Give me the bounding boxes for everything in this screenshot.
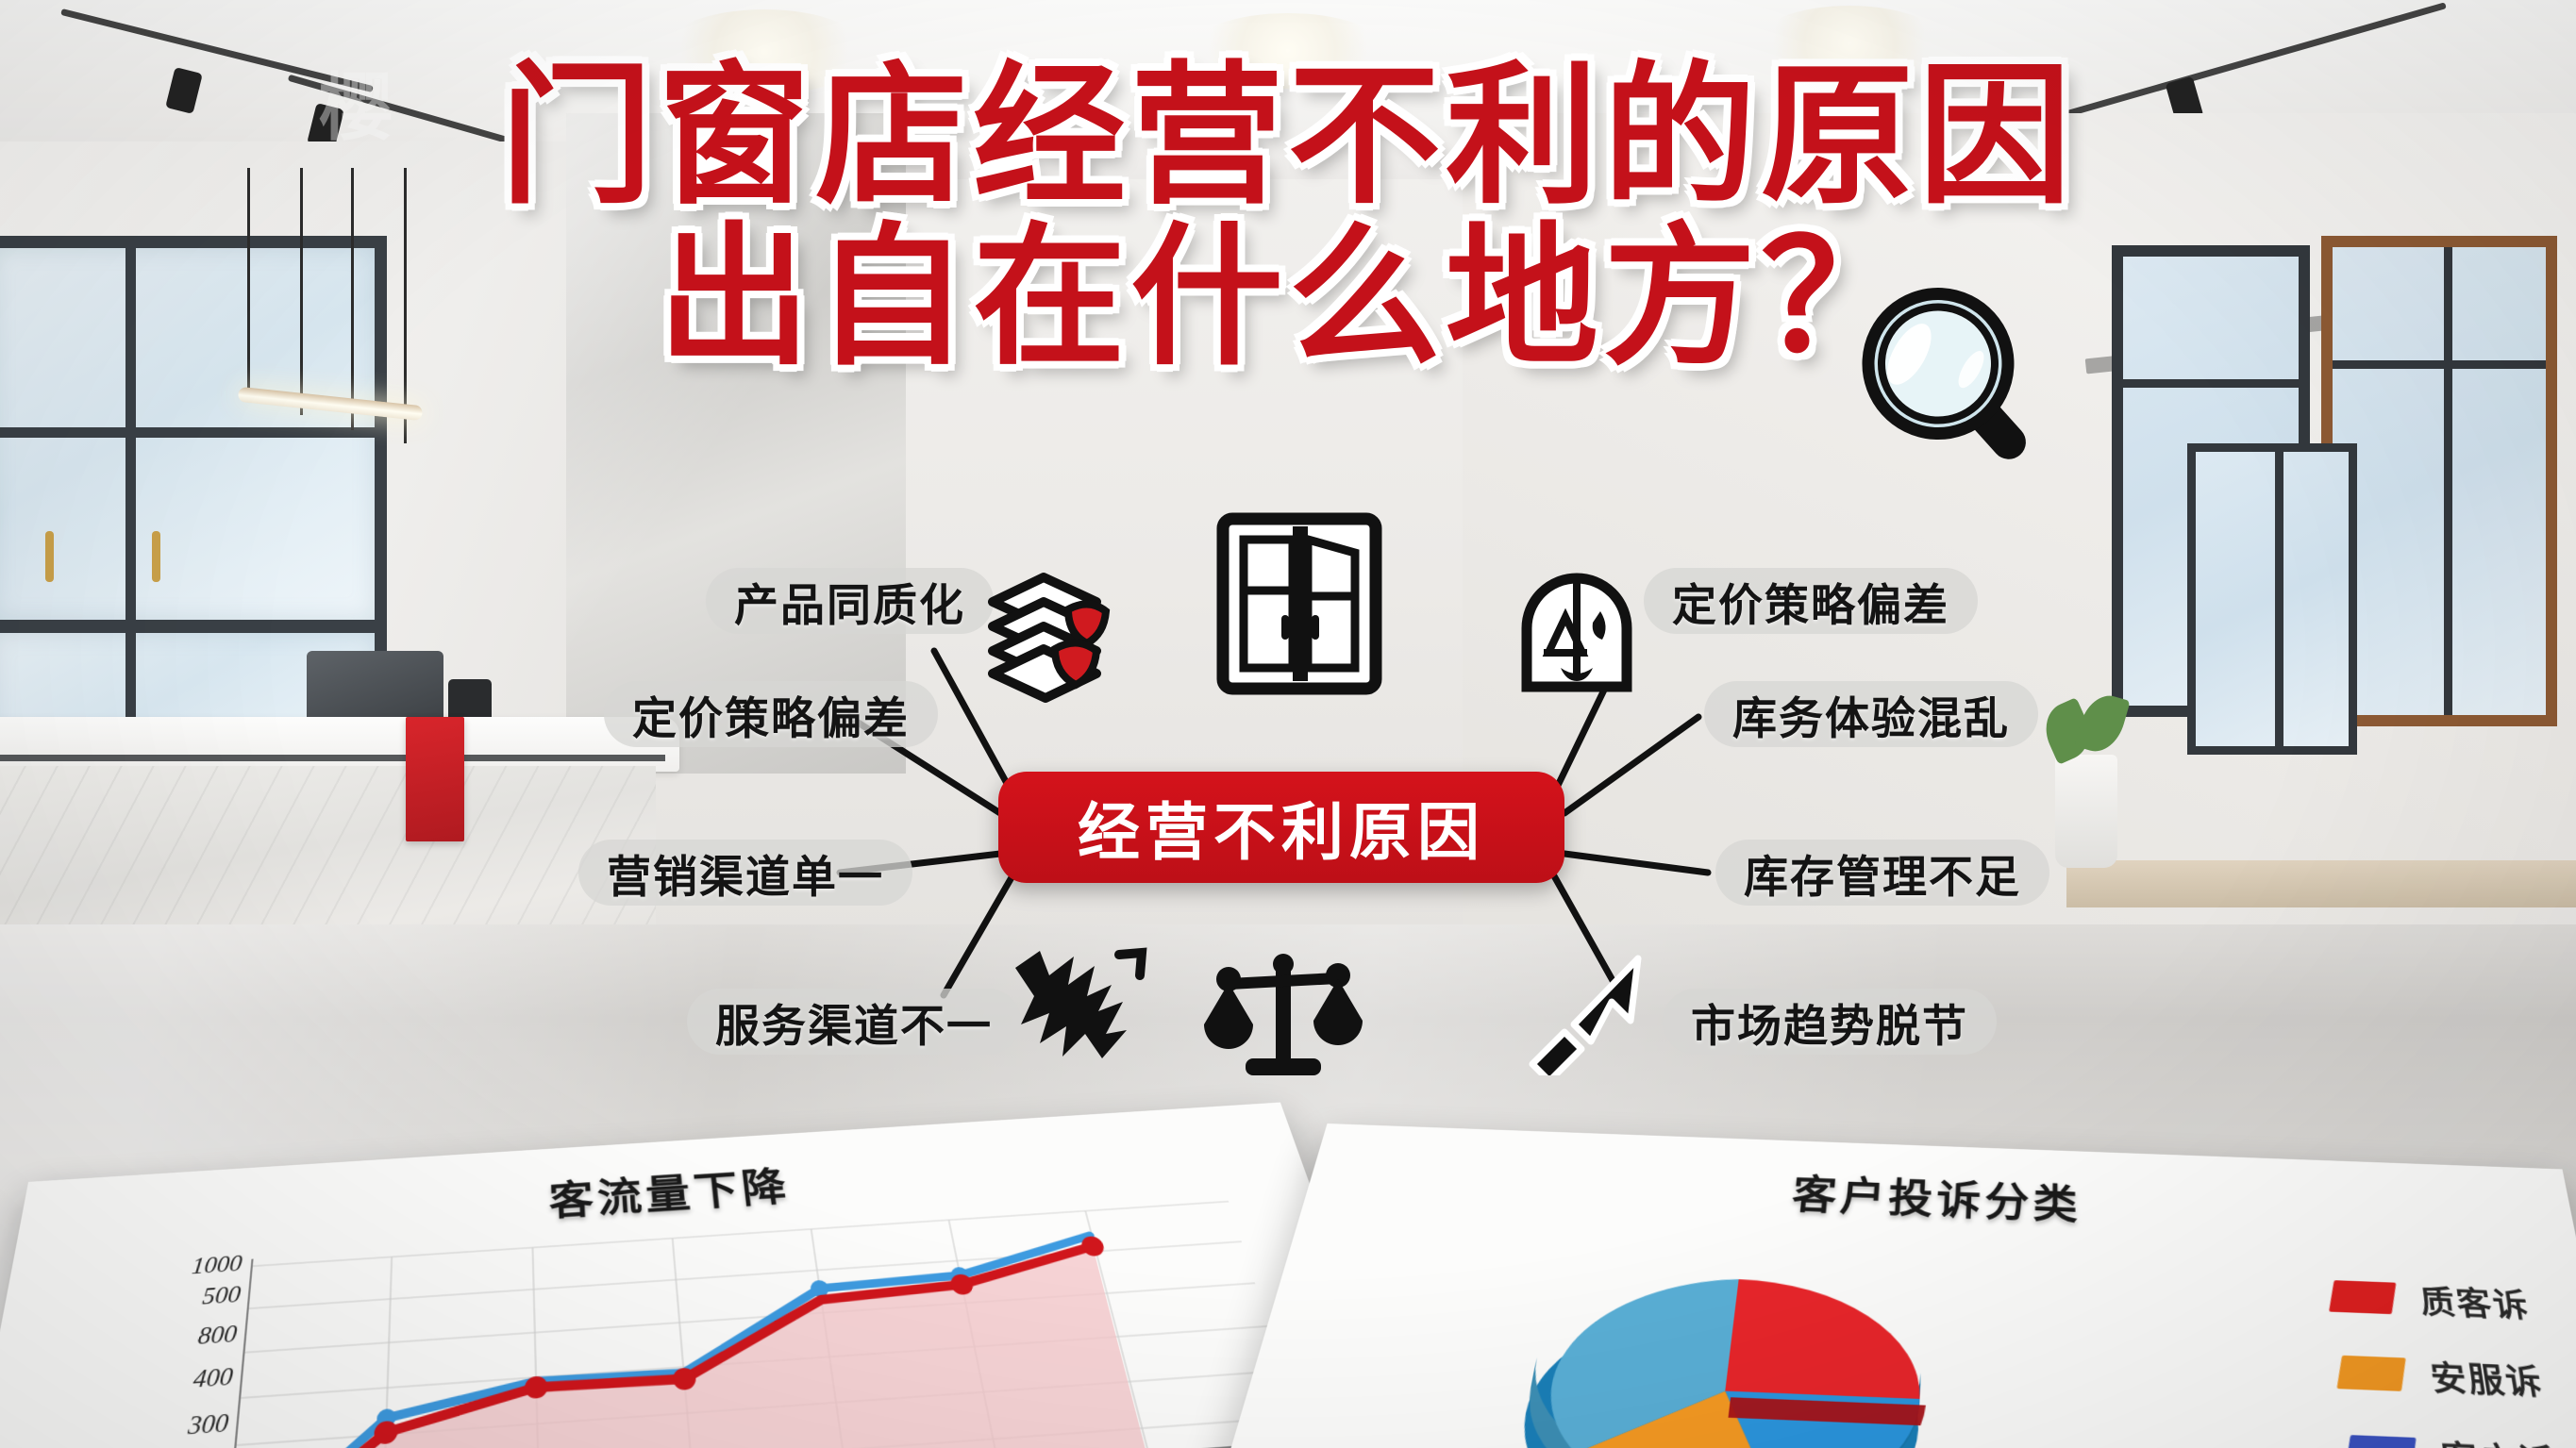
title-line-1: 门窗店经营不利的原因 [500,58,2076,214]
branch-market-trend-disconnect[interactable]: 市场趋势脱节 [1663,989,1997,1055]
stacked-boxes-shield-icon [978,564,1129,706]
branch-chaotic-store-experience[interactable]: 库务体验混乱 [1704,681,2038,747]
broken-chart-icon [1008,943,1149,1066]
poster-root: 樱 门窗店经营不利的原因 出自在什么地方？ [0,0,2576,1448]
title-line-2: 出自在什么地方？ [658,220,1918,375]
poster-title: 门窗店经营不利的原因 出自在什么地方？ [0,58,2576,375]
branch-product-homogenization[interactable]: 产品同质化 [706,568,994,634]
mindmap-center-badge[interactable]: 经营不利原因 [998,772,1564,883]
window-door-icon [1210,509,1389,698]
branch-insufficient-inventory-mgmt[interactable]: 库存管理不足 [1715,840,2049,906]
arched-window-scale-icon [1506,562,1648,704]
branch-pricing-deviation-right[interactable]: 定价策略偏差 [1644,568,1978,634]
branch-single-marketing-channel[interactable]: 营销渠道单一 [578,840,912,906]
branch-pricing-deviation-left[interactable]: 定价策略偏差 [604,681,938,747]
magnifier-icon [1848,283,2036,472]
branch-inconsistent-service-channel[interactable]: 服务渠道不一 [687,989,1021,1055]
trending-up-arrow-icon [1519,953,1651,1075]
balance-scale-icon [1198,951,1368,1083]
